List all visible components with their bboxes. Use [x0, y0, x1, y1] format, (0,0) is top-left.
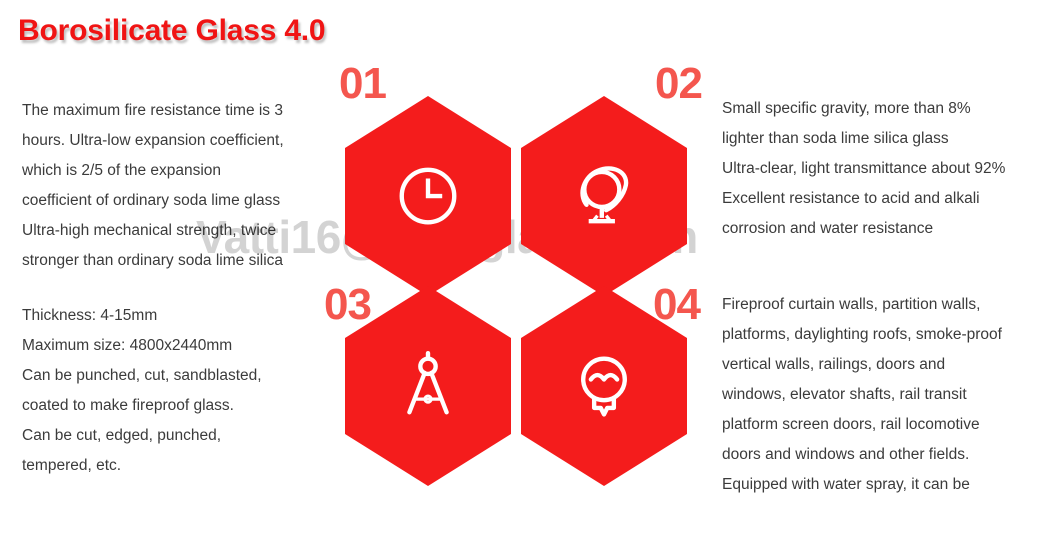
text-line: platform screen doors, rail locomotive	[722, 410, 1002, 440]
step-number-04: 04	[653, 283, 700, 327]
text-line: Excellent resistance to acid and alkali	[722, 184, 1005, 214]
step-number-02: 02	[655, 62, 702, 106]
text-line: vertical walls, railings, doors and	[722, 350, 1002, 380]
text-line: Small specific gravity, more than 8%	[722, 94, 1005, 124]
text-line: tempered, etc.	[22, 451, 262, 481]
section-02-text: Small specific gravity, more than 8% lig…	[722, 94, 1005, 244]
lightbulb-icon	[569, 351, 639, 421]
text-line: hours. Ultra-low expansion coefficient,	[22, 126, 284, 156]
hexagon-01[interactable]	[345, 96, 511, 296]
hexagon-02[interactable]	[521, 96, 687, 296]
text-line: Maximum size: 4800x2440mm	[22, 331, 262, 361]
text-line: platforms, daylighting roofs, smoke-proo…	[722, 320, 1002, 350]
section-04-text: Fireproof curtain walls, partition walls…	[722, 290, 1002, 500]
text-line: which is 2/5 of the expansion	[22, 156, 284, 186]
text-line: corrosion and water resistance	[722, 214, 1005, 244]
text-line: Can be punched, cut, sandblasted,	[22, 361, 262, 391]
compass-icon	[393, 351, 463, 421]
text-line: lighter than soda lime silica glass	[722, 124, 1005, 154]
hexagon-shape	[345, 96, 511, 296]
text-line: Equipped with water spray, it can be	[722, 470, 1002, 500]
text-line: windows, elevator shafts, rail transit	[722, 380, 1002, 410]
watermark: Vatti16@vattiglass.com	[196, 210, 698, 264]
text-line: Fireproof curtain walls, partition walls…	[722, 290, 1002, 320]
text-line: coated to make fireproof glass.	[22, 391, 262, 421]
step-number-01: 01	[339, 62, 386, 106]
hexagon-shape	[521, 96, 687, 296]
text-line: Ultra-clear, light transmittance about 9…	[722, 154, 1005, 184]
text-line: doors and windows and other fields.	[722, 440, 1002, 470]
text-line: Can be cut, edged, punched,	[22, 421, 262, 451]
section-03-text: Thickness: 4-15mm Maximum size: 4800x244…	[22, 301, 262, 481]
text-line: The maximum fire resistance time is 3	[22, 96, 284, 126]
step-number-03: 03	[324, 283, 371, 327]
text-line: Thickness: 4-15mm	[22, 301, 262, 331]
page-title: Borosilicate Glass 4.0	[18, 14, 325, 48]
infographic-page: Borosilicate Glass 4.0 The maximum fire …	[0, 0, 1060, 537]
